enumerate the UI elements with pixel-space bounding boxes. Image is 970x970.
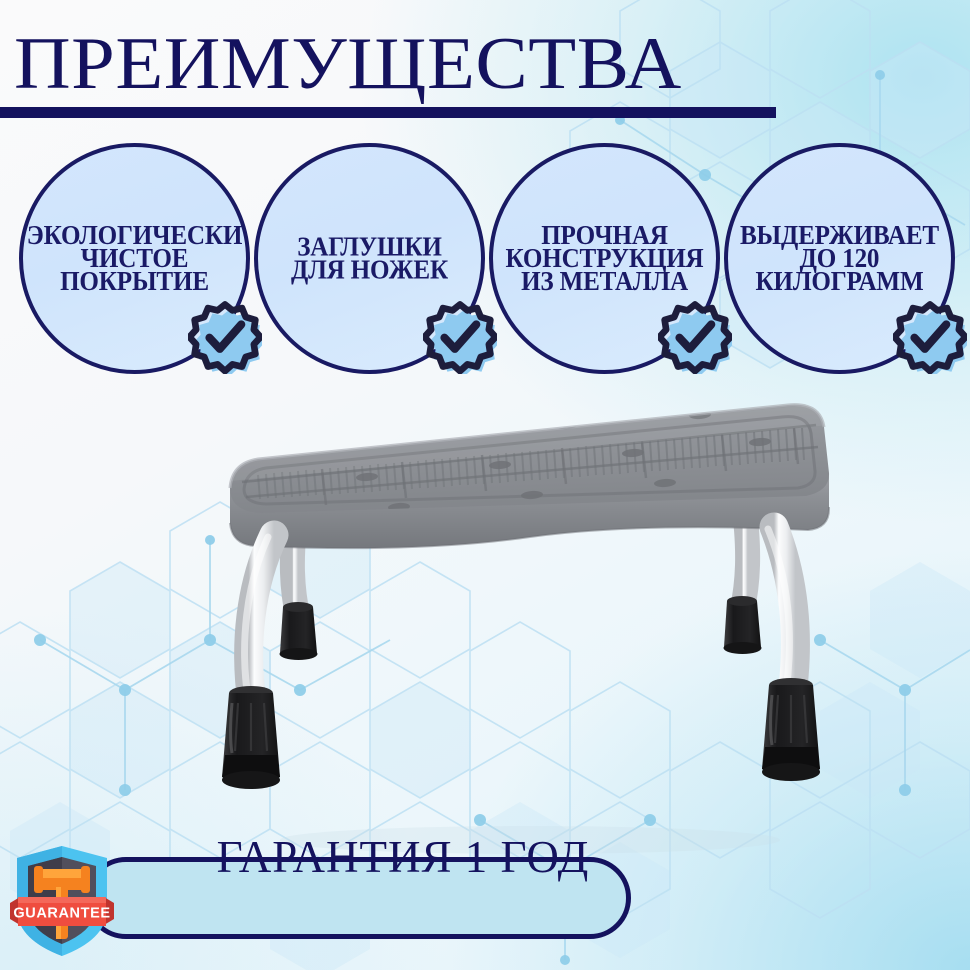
rubber-foot-cap bbox=[762, 678, 820, 781]
title-underline-rule bbox=[0, 107, 776, 118]
feature-line: КИЛОГРАММ bbox=[723, 270, 956, 293]
feature-label-eco-coating: ЭКОЛОГИЧЕСКИ ЧИСТОЕ ПОКРЫТИЕ bbox=[9, 223, 260, 293]
feature-label-leg-caps: ЗАГЛУШКИ ДЛЯ НОЖЕК bbox=[244, 235, 495, 282]
guarantee-ribbon-text: GUARANTEE bbox=[13, 906, 110, 922]
verified-check-icon bbox=[658, 300, 732, 374]
feature-line: ИЗ МЕТАЛЛА bbox=[488, 270, 721, 293]
verified-check-icon bbox=[188, 300, 262, 374]
product-image-step-stool bbox=[170, 385, 890, 855]
feature-circle-metal-frame: ПРОЧНАЯ КОНСТРУКЦИЯ ИЗ МЕТАЛЛА bbox=[489, 143, 720, 374]
feature-line: ПОКРЫТИЕ bbox=[18, 270, 251, 293]
page-title: ПРЕИМУЩЕСТВА bbox=[14, 27, 682, 101]
feature-line: ДЛЯ НОЖЕК bbox=[253, 259, 486, 282]
guarantee-label: ГАРАНТИЯ 1 ГОД bbox=[85, 816, 631, 898]
rubber-foot-cap bbox=[222, 686, 280, 789]
verified-check-icon bbox=[423, 300, 497, 374]
guarantee-label-text: ГАРАНТИЯ 1 ГОД bbox=[171, 835, 590, 880]
feature-label-metal-frame: ПРОЧНАЯ КОНСТРУКЦИЯ ИЗ МЕТАЛЛА bbox=[479, 223, 730, 293]
feature-circle-leg-caps: ЗАГЛУШКИ ДЛЯ НОЖЕК bbox=[254, 143, 485, 374]
guarantee-ribbon: GUARANTEE bbox=[10, 897, 114, 926]
feature-circle-load-capacity: ВЫДЕРЖИВАЕТ ДО 120 КИЛОГРАММ bbox=[724, 143, 955, 374]
verified-check-icon bbox=[893, 300, 967, 374]
infographic-canvas: ПРЕИМУЩЕСТВА ЭКОЛОГИЧЕСКИ ЧИСТОЕ ПОКРЫТИ… bbox=[0, 0, 970, 970]
guarantee-shield-icon: GUARANTEE bbox=[10, 843, 114, 959]
feature-circle-eco-coating: ЭКОЛОГИЧЕСКИ ЧИСТОЕ ПОКРЫТИЕ bbox=[19, 143, 250, 374]
feature-label-load-capacity: ВЫДЕРЖИВАЕТ ДО 120 КИЛОГРАММ bbox=[714, 223, 965, 293]
